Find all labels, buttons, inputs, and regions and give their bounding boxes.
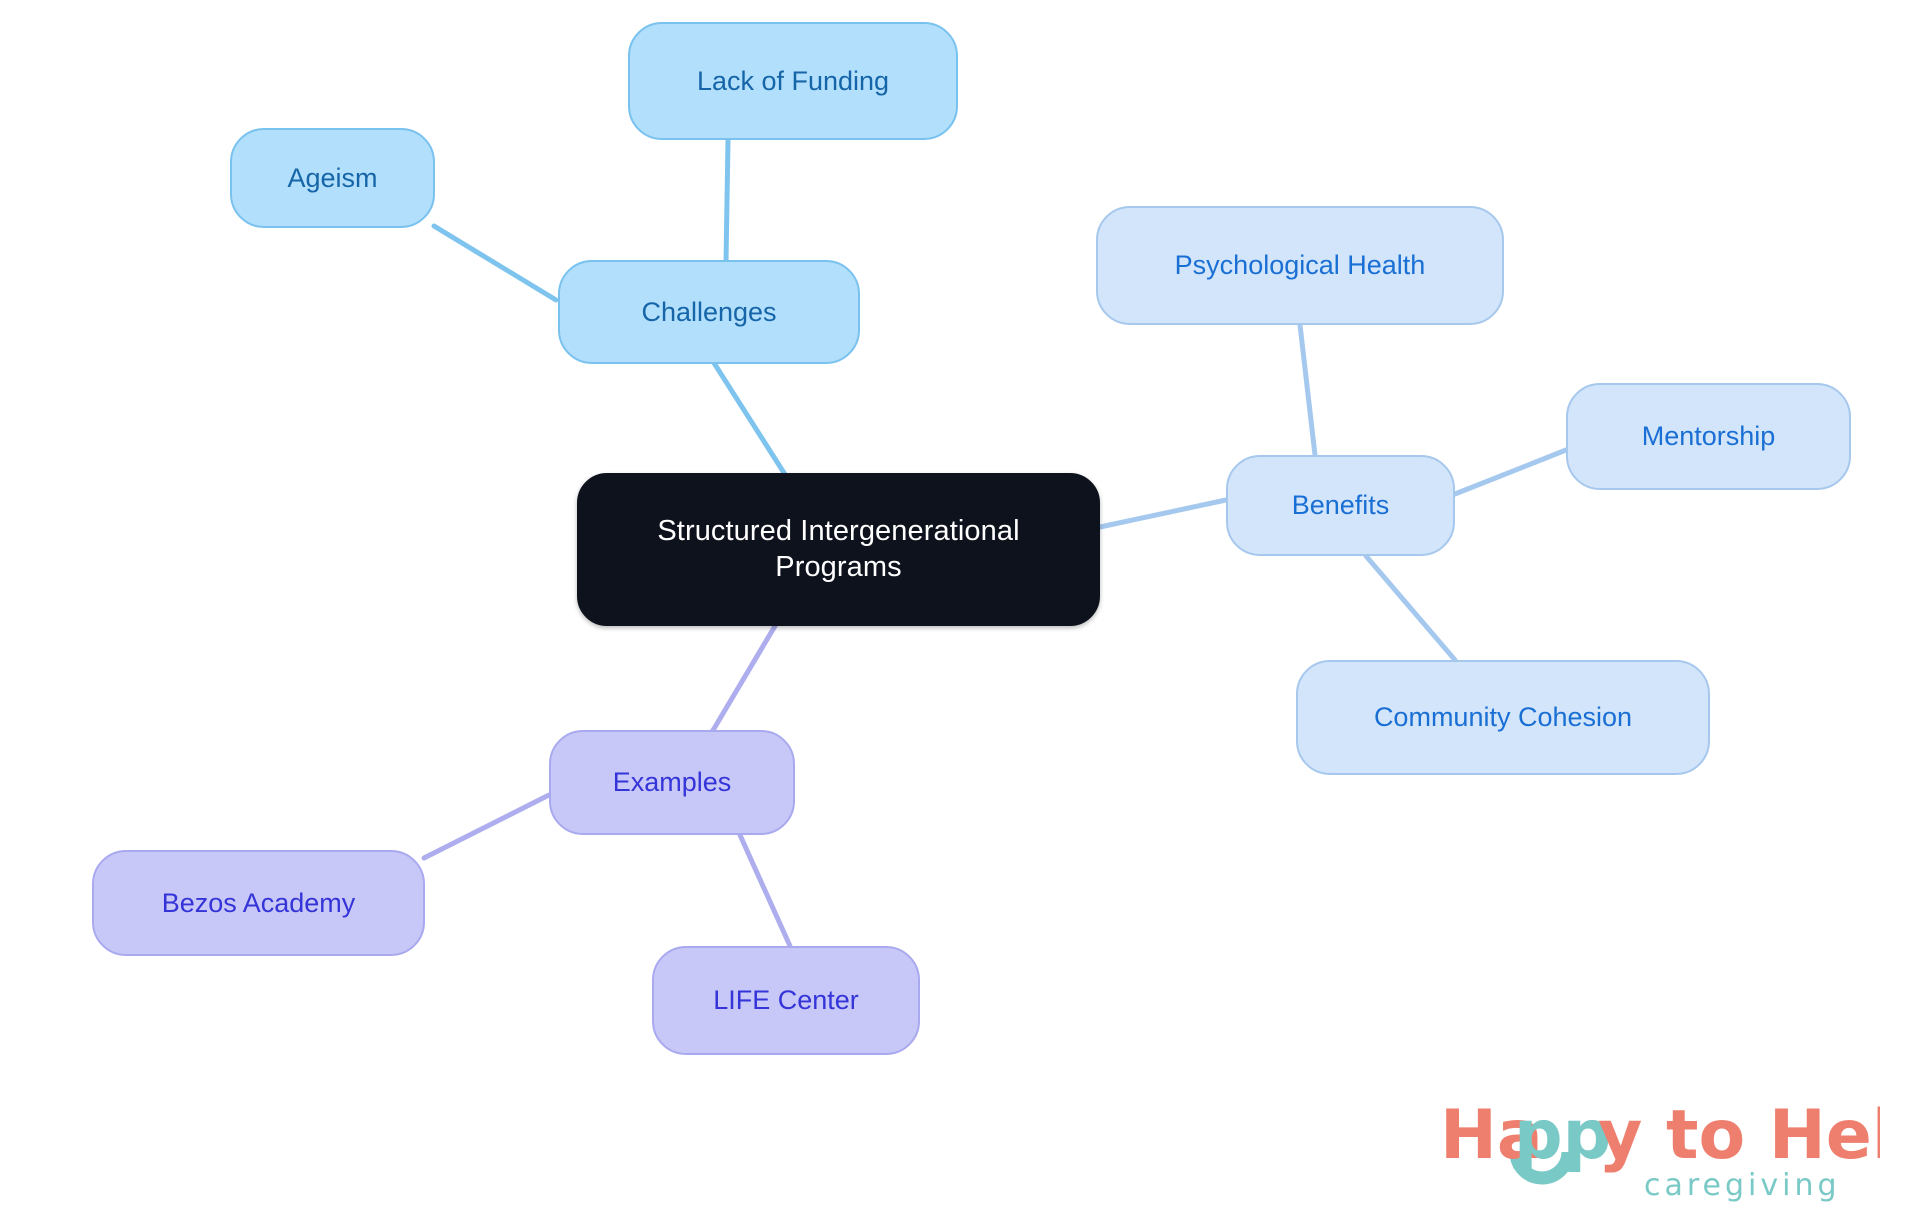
node-root[interactable]: Structured Intergenerational Programs [577,473,1100,626]
node-examples[interactable]: Examples [549,730,795,835]
brand-logo: Ha pp y to Help caregiving [1440,1090,1880,1208]
node-psychological-health[interactable]: Psychological Health [1096,206,1504,325]
edge-challenges-ageism [434,226,556,300]
edge-examples-bezos-academy [424,795,549,858]
node-benefits[interactable]: Benefits [1226,455,1455,556]
logo-tagline: caregiving [1644,1168,1841,1203]
edge-root-benefits [1100,500,1226,527]
node-challenges[interactable]: Challenges [558,260,860,364]
node-mentorship[interactable]: Mentorship [1566,383,1851,490]
edge-challenges-lack-of-funding [726,140,728,262]
edge-root-examples [712,626,775,732]
node-life-center[interactable]: LIFE Center [652,946,920,1055]
edge-root-challenges [714,363,786,476]
node-ageism[interactable]: Ageism [230,128,435,228]
node-community-cohesion[interactable]: Community Cohesion [1296,660,1710,775]
edge-benefits-mentorship [1455,450,1566,494]
mindmap-canvas: Structured Intergenerational Programs Ch… [0,0,1920,1215]
logo-word-part-3: y to Help [1598,1096,1880,1175]
node-lack-of-funding[interactable]: Lack of Funding [628,22,958,140]
edge-benefits-community-cohesion [1366,556,1455,660]
logo-word-part-2: pp [1514,1096,1611,1175]
node-bezos-academy[interactable]: Bezos Academy [92,850,425,956]
edge-examples-life-center [740,835,790,946]
edge-benefits-psychological-health [1300,325,1315,455]
